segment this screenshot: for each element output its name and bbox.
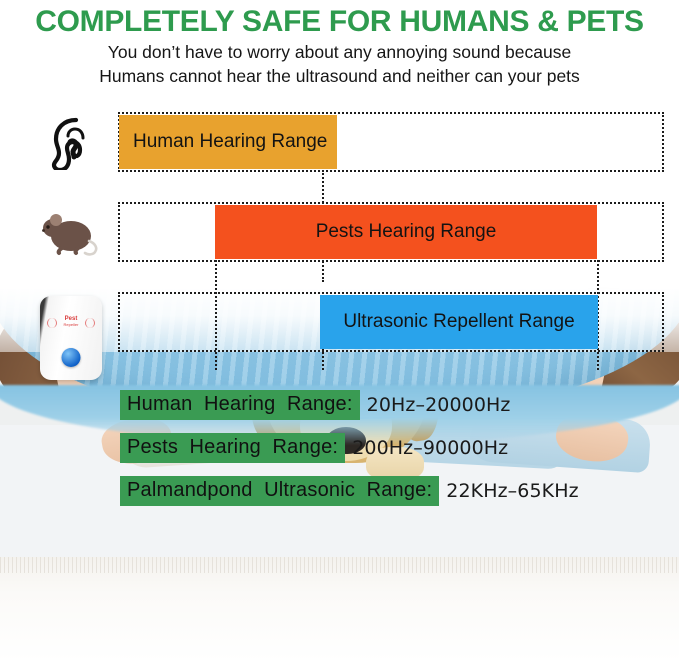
legend: Human Hearing Range: 20Hz–20000Hz Pests … [0, 383, 679, 512]
legend-value-pests: 200Hz–90000Hz [345, 437, 508, 459]
ultrasonic-repeller-device: Pest Repeller [40, 296, 102, 380]
device-brand-logo: Pest Repeller [40, 316, 102, 327]
chart-row-pests: Pests Hearing Range [0, 202, 679, 264]
legend-row-human: Human Hearing Range: 20Hz–20000Hz [0, 383, 679, 426]
chart-bar-ultrasonic: Ultrasonic Repellent Range [320, 295, 598, 349]
page-title: COMPLETELY SAFE FOR HUMANS & PETS [0, 6, 679, 38]
device-brand-subtitle: Repeller [40, 323, 102, 328]
chart-bar-human: Human Hearing Range [119, 115, 337, 169]
header: COMPLETELY SAFE FOR HUMANS & PETS You do… [0, 0, 679, 88]
device-led-indicator [62, 348, 81, 367]
subtitle-line-2: Humans cannot hear the ultrasound and ne… [12, 64, 667, 88]
photo-carpet [0, 557, 679, 662]
subtitle-line-1: You don’t have to worry about any annoyi… [12, 40, 667, 64]
chart-bar-ultrasonic-label: Ultrasonic Repellent Range [343, 311, 574, 333]
legend-row-pests: Pests Hearing Range: 200Hz–90000Hz [0, 426, 679, 469]
legend-value-ultrasonic: 22KHz–65KHz [439, 480, 578, 502]
legend-key-ultrasonic: Palmandpond Ultrasonic Range: [120, 476, 439, 506]
chart-bar-pests-label: Pests Hearing Range [316, 221, 497, 243]
legend-key-human: Human Hearing Range: [120, 390, 360, 420]
legend-row-ultrasonic: Palmandpond Ultrasonic Range: 22KHz–65KH… [0, 469, 679, 512]
legend-key-pests: Pests Hearing Range: [120, 433, 345, 463]
chart-bar-pests: Pests Hearing Range [215, 205, 597, 259]
mouse-icon [36, 204, 102, 262]
legend-value-human: 20Hz–20000Hz [360, 394, 511, 416]
chart-bar-human-label: Human Hearing Range [133, 131, 327, 153]
ear-icon [36, 114, 102, 172]
chart-row-human: Human Hearing Range [0, 112, 679, 174]
